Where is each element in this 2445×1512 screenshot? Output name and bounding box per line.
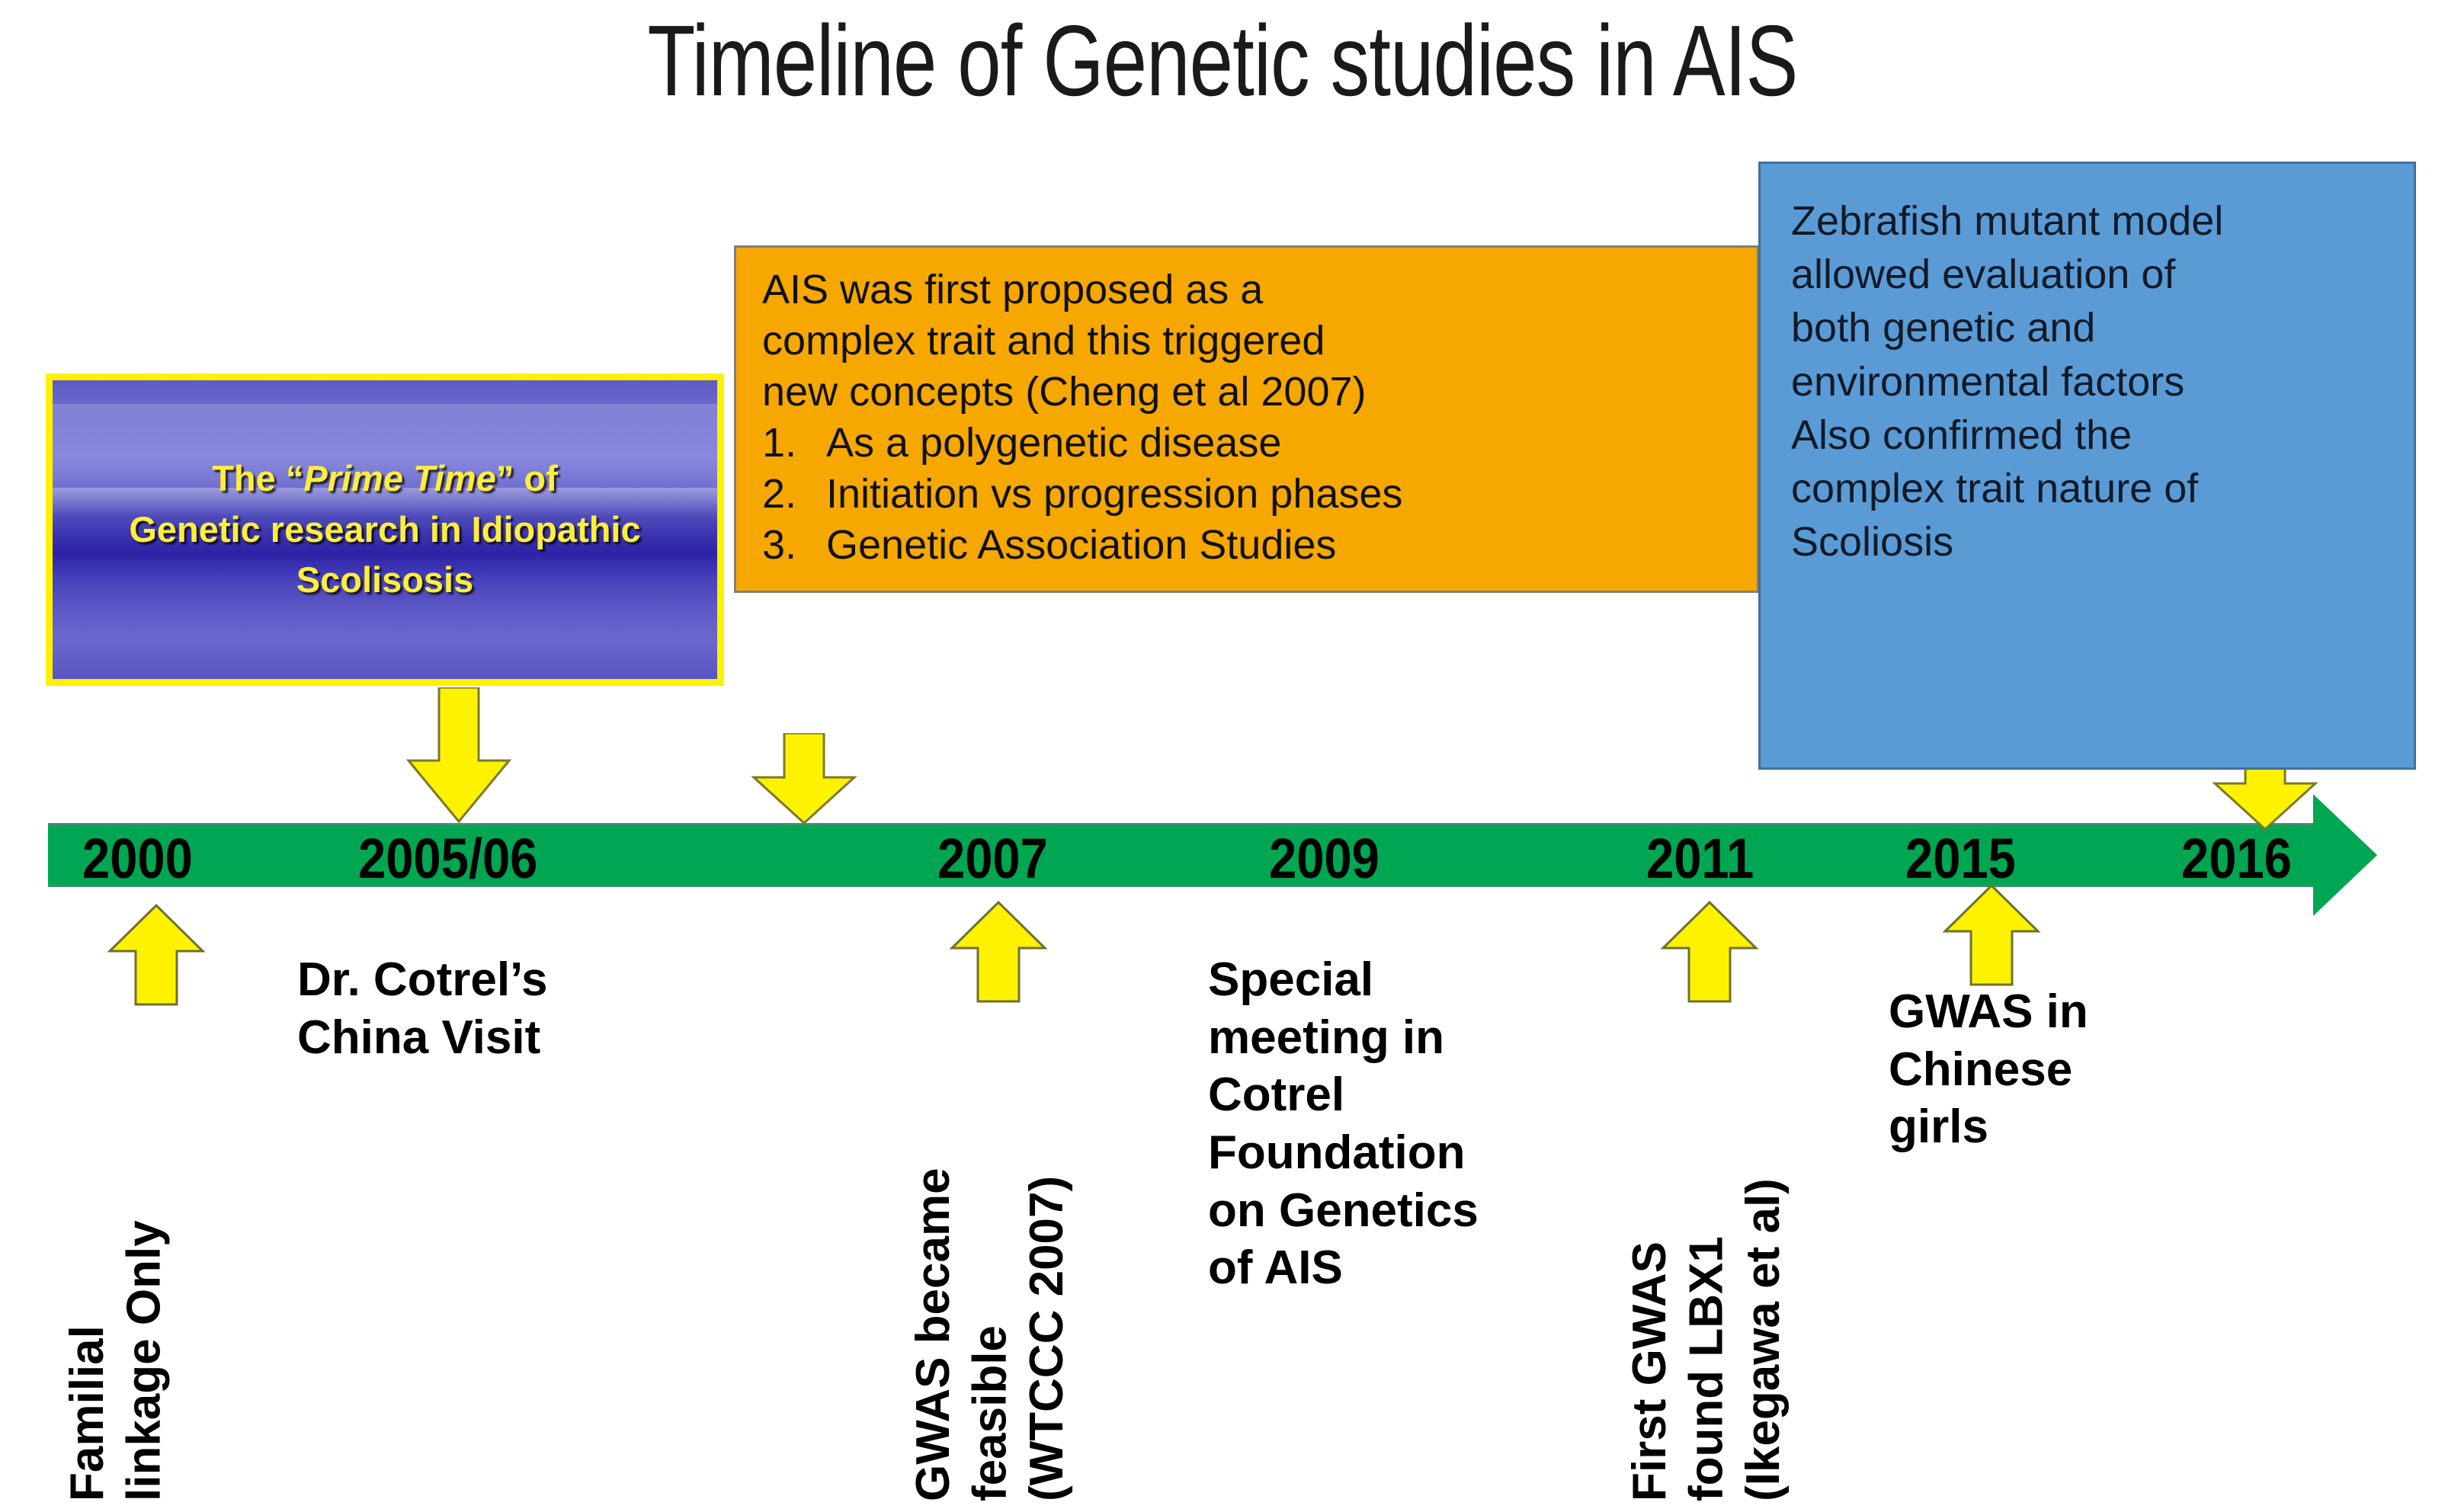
up-arrow-2000 [107, 904, 206, 1006]
orange-para-line-2: complex trait and this triggered [762, 316, 1749, 367]
orange-callout-box: AIS was first proposed as a complex trai… [734, 245, 1759, 593]
zebrafish-line-6: complex trait nature of [1791, 462, 2400, 515]
label-first-gwas-lbx1: First GWAS found LBX1 (Ikegawa et al) [1622, 1014, 1792, 1501]
year-label-2015: 2015 [1905, 826, 2016, 891]
zebrafish-line-3: both genetic and [1791, 301, 2400, 354]
label-familial-linkage: Familial linkage Only [59, 1021, 173, 1501]
prime-time-line-3: Scolisosis [79, 555, 691, 606]
label-cotrel-line-1: Dr. Cotrel’s [297, 951, 547, 1009]
orange-list-item-1: 1. As a polygenetic disease [762, 418, 1749, 469]
label-special-meeting-line-1: Special [1208, 951, 1479, 1009]
label-special-meeting-line-5: on Genetics [1208, 1182, 1479, 1240]
down-arrow-2005 [405, 687, 512, 825]
prime-time-image-box: The “Prime Time” of Genetic research in … [46, 373, 724, 686]
label-cotrel-line-2: China Visit [297, 1009, 547, 1067]
label-special-meeting-line-3: Cotrel [1208, 1066, 1479, 1124]
orange-list-text-3: Genetic Association Studies [826, 520, 1336, 571]
timeline-arrowhead [2313, 794, 2377, 916]
up-arrow-2007-bottom [949, 901, 1048, 1003]
orange-list-number-2: 2. [762, 469, 826, 520]
year-label-2000: 2000 [82, 826, 193, 891]
page-title: Timeline of Genetic studies in AIS [269, 5, 2176, 117]
orange-list-text-2: Initiation vs progression phases [826, 469, 1402, 520]
prime-line1-post: ” of [496, 458, 558, 498]
label-gwas-chinese-line-3: girls [1889, 1098, 2088, 1156]
image-sheen-top [53, 404, 717, 452]
orange-list-text-1: As a polygenetic disease [826, 418, 1281, 469]
orange-list-item-2: 2. Initiation vs progression phases [762, 469, 1749, 520]
orange-callout-body: AIS was first proposed as a complex trai… [736, 248, 1757, 571]
label-special-meeting-line-2: meeting in [1208, 1009, 1479, 1067]
year-label-2011: 2011 [1646, 826, 1754, 891]
zebrafish-line-1: Zebrafish mutant model [1791, 194, 2400, 248]
prime-line1-italic: Prime Time [303, 458, 496, 498]
zebrafish-line-7: Scoliosis [1791, 515, 2400, 569]
up-arrow-2011 [1660, 901, 1759, 1003]
zebrafish-callout-body: Zebrafish mutant model allowed evaluatio… [1761, 164, 2414, 569]
orange-list-number-3: 3. [762, 520, 826, 571]
label-gwas-feasible: GWAS became feasible (WTCCC 2007) [905, 1014, 1075, 1501]
label-gwas-chinese-line-1: GWAS in [1889, 983, 2088, 1041]
label-special-meeting-line-6: of AIS [1208, 1239, 1479, 1297]
timeline-diagram: Timeline of Genetic studies in AIS The “… [0, 0, 2445, 1512]
year-label-2007: 2007 [937, 826, 1048, 891]
down-arrow-2007-top [751, 733, 857, 826]
label-gwas-chinese-girls: GWAS in Chinese girls [1889, 983, 2088, 1156]
prime-time-line-2: Genetic research in Idiopathic [79, 505, 691, 556]
prime-line1-pre: The “ [212, 458, 303, 498]
year-label-2005-06: 2005/06 [358, 826, 537, 891]
prime-time-caption: The “Prime Time” of Genetic research in … [53, 453, 717, 606]
orange-para-line-1: AIS was first proposed as a [762, 264, 1749, 316]
up-arrow-2015 [1942, 884, 2041, 986]
label-special-meeting: Special meeting in Cotrel Foundation on … [1208, 951, 1479, 1297]
label-cotrel-china-visit: Dr. Cotrel’s China Visit [297, 951, 547, 1066]
orange-para-line-3: new concepts (Cheng et al 2007) [762, 367, 1749, 418]
label-special-meeting-line-4: Foundation [1208, 1124, 1479, 1182]
year-label-2016: 2016 [2181, 826, 2292, 891]
prime-time-line-1: The “Prime Time” of [79, 453, 691, 505]
label-gwas-chinese-line-2: Chinese [1889, 1041, 2088, 1099]
zebrafish-line-4: environmental factors [1791, 355, 2400, 408]
zebrafish-line-5: Also confirmed the [1791, 408, 2400, 462]
orange-list-number-1: 1. [762, 418, 826, 469]
zebrafish-line-2: allowed evaluation of [1791, 248, 2400, 301]
zebrafish-callout-box: Zebrafish mutant model allowed evaluatio… [1758, 162, 2416, 770]
year-label-2009: 2009 [1269, 826, 1380, 891]
orange-list-item-3: 3. Genetic Association Studies [762, 520, 1749, 571]
